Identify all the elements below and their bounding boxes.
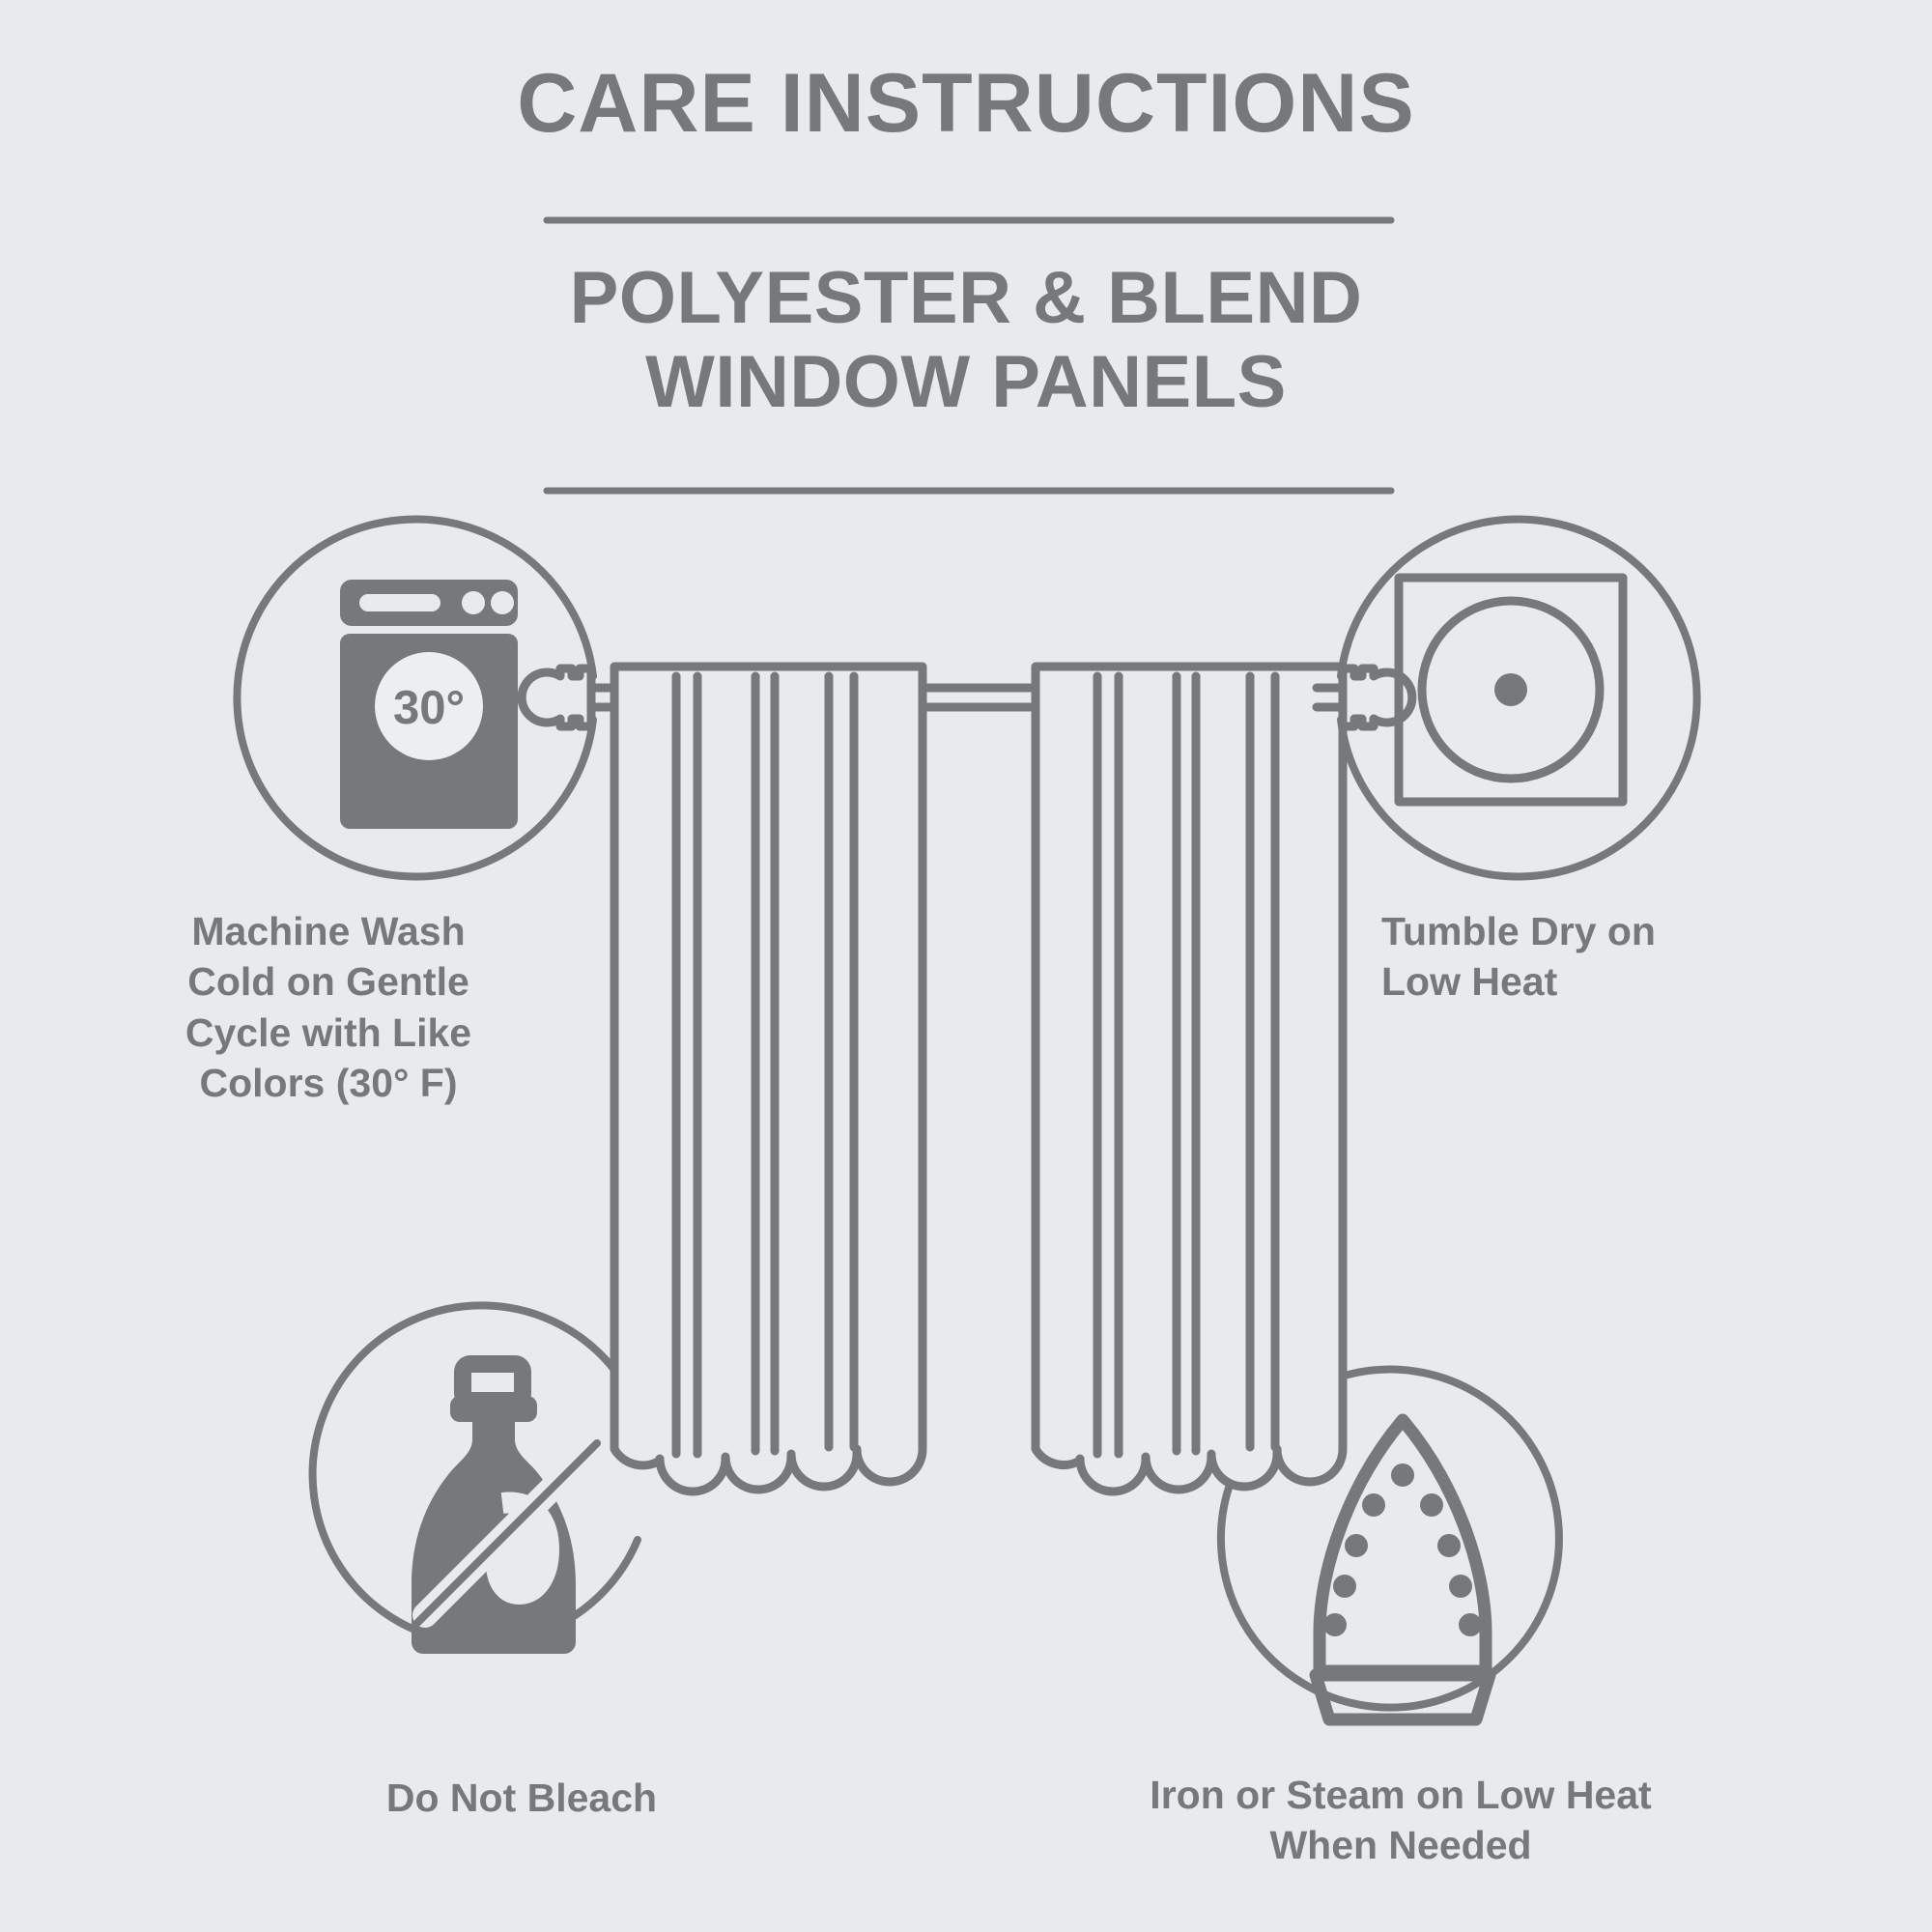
caption-do-not-bleach: Do Not Bleach (232, 1773, 811, 1823)
washer-temperature-label: 30° (393, 682, 465, 734)
bleach-bottle-crossed-icon (412, 1364, 597, 1654)
steam-hole (1420, 1493, 1443, 1517)
curtain-panel-right (1036, 667, 1343, 1492)
curtain-finial-left (522, 668, 591, 726)
steam-hole (1449, 1575, 1472, 1598)
care-symbol-do-not-bleach (313, 1305, 638, 1654)
steam-hole (1345, 1534, 1368, 1557)
caption-iron: Iron or Steam on Low Heat When Needed (1043, 1770, 1758, 1871)
steam-hole (1437, 1534, 1461, 1557)
washing-machine-icon: 30° (340, 580, 518, 829)
care-instructions-infographic: 30° (0, 0, 1932, 1932)
page-title: CARE INSTRUCTIONS (0, 56, 1932, 152)
tumble-dry-low-dot (1494, 673, 1527, 706)
iron-steam-holes (1323, 1463, 1482, 1636)
bleach-bottle-cap (463, 1364, 523, 1401)
steam-hole (1333, 1575, 1356, 1598)
page-subtitle: POLYESTER & BLEND WINDOW PANELS (0, 256, 1932, 425)
curtain-panel-left (614, 667, 923, 1492)
caption-machine-wash: Machine Wash Cold on Gentle Cycle with L… (116, 906, 541, 1109)
steam-hole (1362, 1493, 1385, 1517)
care-symbol-tumble-dry (1341, 520, 1697, 877)
curtain-illustration (522, 667, 1412, 1492)
tumble-dry-low-icon (1399, 578, 1623, 802)
steam-hole (1323, 1613, 1347, 1636)
washer-knob-2 (491, 591, 514, 614)
caption-tumble-dry: Tumble Dry on Low Heat (1381, 906, 1806, 1008)
steam-hole (1459, 1613, 1482, 1636)
washer-knob-1 (462, 591, 485, 614)
steam-hole (1391, 1463, 1414, 1487)
washer-display-slot (359, 594, 440, 611)
care-symbol-machine-wash: 30° (237, 520, 593, 877)
